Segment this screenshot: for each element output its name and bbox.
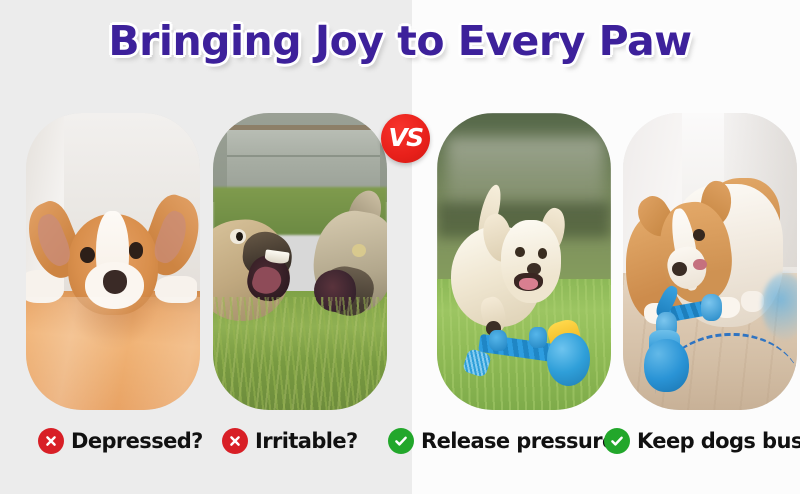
photo-sad-corgi [26,113,200,410]
vs-badge-label: VS [388,125,422,150]
photo-card-corgi-with-toy [623,113,797,410]
cross-circle-icon [222,428,248,454]
product-feature-banner: Bringing Joy to Every Paw [0,0,800,494]
photo-corgi-with-suction-toy [623,113,797,410]
check-circle-icon [388,428,414,454]
cross-circle-icon [38,428,64,454]
caption-label: Irritable? [255,429,358,453]
photo-fighting-dogs [213,113,387,410]
caption-depressed: Depressed? [38,424,203,458]
banner-headline: Bringing Joy to Every Paw [0,17,800,65]
caption-label: Depressed? [71,429,203,453]
caption-row: Depressed? Irritable? Release pressure [0,424,800,466]
vs-badge: VS [381,114,430,163]
caption-label: Keep dogs busy [637,429,800,453]
check-circle-icon [604,428,630,454]
caption-irritable: Irritable? [222,424,358,458]
caption-label: Release pressure [421,429,616,453]
photo-card-running-puppy [437,113,611,410]
caption-release-pressure: Release pressure [388,424,616,458]
photo-card-sad-corgi [26,113,200,410]
photo-running-puppy-with-toy [437,113,611,410]
caption-keep-dogs-busy: Keep dogs busy [604,424,800,458]
photo-card-fighting-dogs [213,113,387,410]
